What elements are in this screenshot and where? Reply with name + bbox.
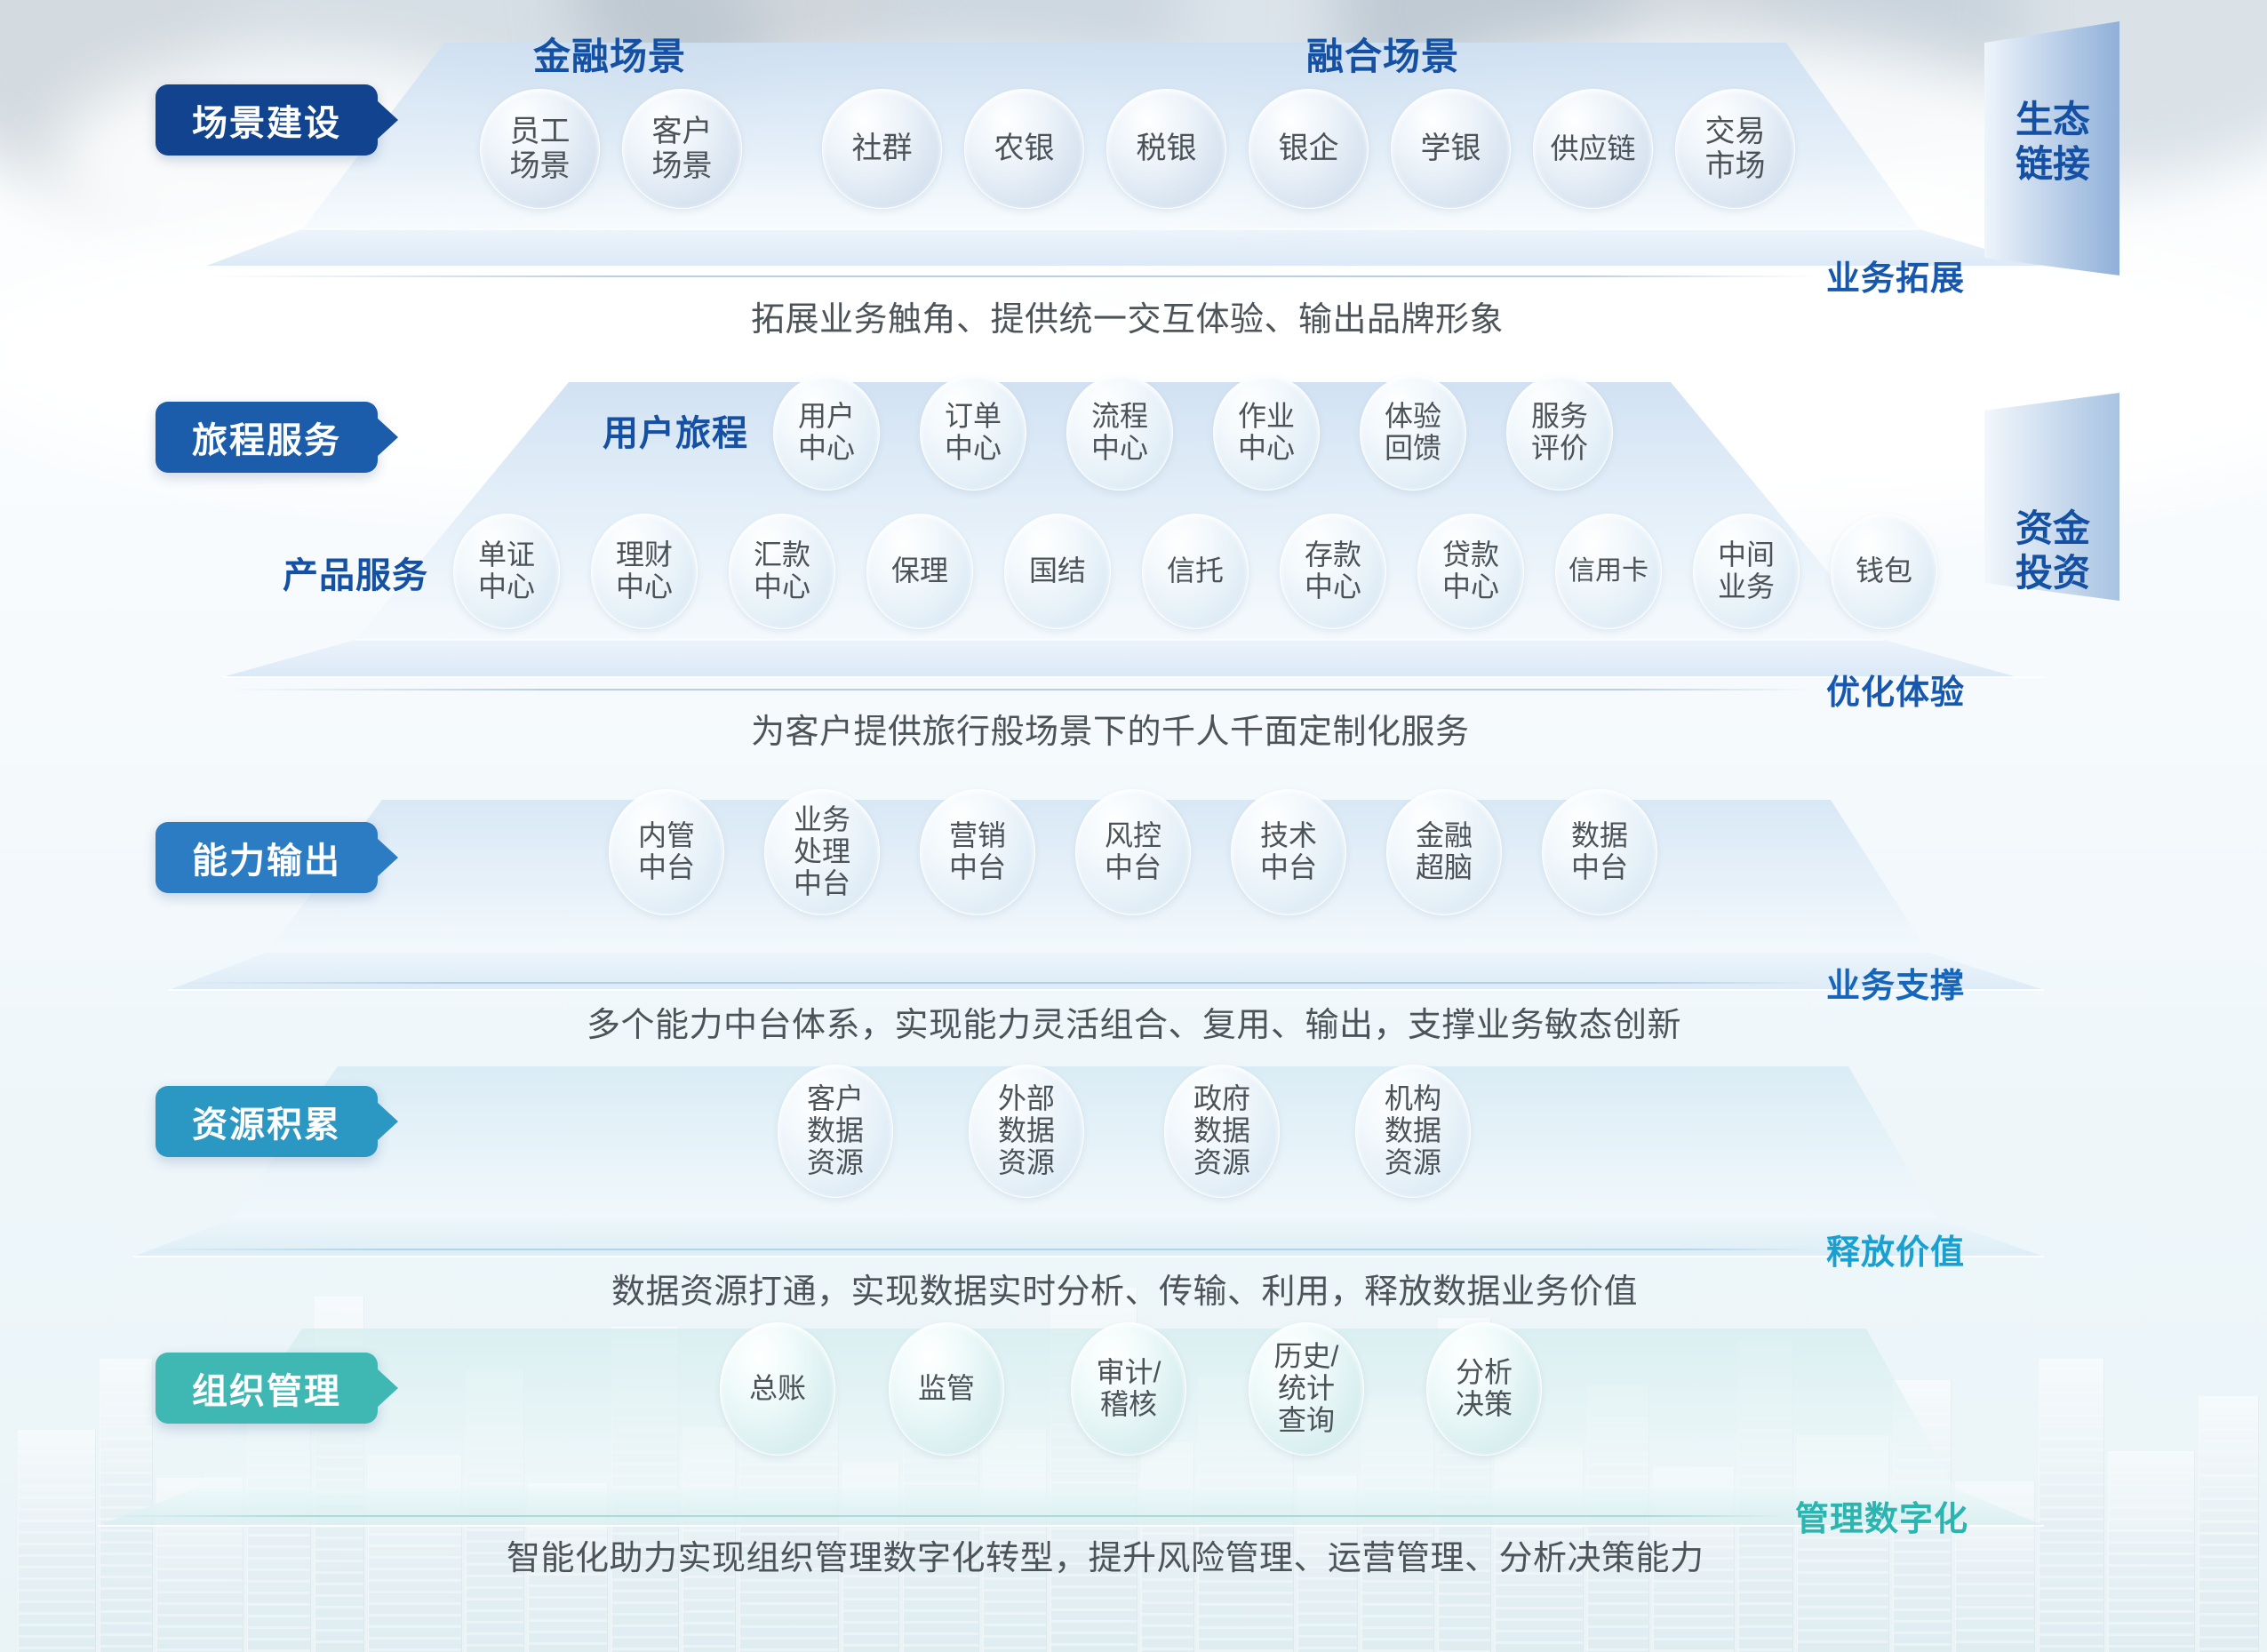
tag-notch	[377, 418, 398, 457]
rule-release-value	[142, 1249, 1813, 1250]
bubble-document-center[interactable]: 单证中心	[453, 514, 560, 629]
bubble-analysis-decision[interactable]: 分析决策	[1426, 1322, 1542, 1456]
bubble-process-center[interactable]: 流程中心	[1066, 375, 1173, 491]
tag-capability-output[interactable]: 能力输出	[156, 822, 378, 893]
side-banner-eco-link: 生态 链接	[1995, 84, 2111, 200]
bubble-loan-center[interactable]: 贷款中心	[1417, 514, 1524, 629]
tag-scene-construction-label: 场景建设	[192, 94, 341, 146]
bubble-service-evaluation[interactable]: 服务评价	[1506, 375, 1613, 491]
caption-capability-output: 多个能力中台体系，实现能力灵活组合、复用、输出，支撑业务敏态创新	[587, 997, 1681, 1046]
tag-journey-service[interactable]: 旅程服务	[156, 402, 378, 473]
rule-optimize-experience	[222, 689, 1813, 690]
bubble-community[interactable]: 社群	[822, 89, 942, 209]
tag-journey-service-label: 旅程服务	[192, 411, 341, 463]
value-label-release-value: 释放价值	[1826, 1225, 1965, 1273]
bubble-remittance-center[interactable]: 汇款中心	[729, 514, 835, 629]
bubble-history-statistics-query[interactable]: 历史/统计查询	[1249, 1322, 1364, 1456]
bubble-supply-chain[interactable]: 供应链	[1533, 89, 1653, 209]
bubble-institution-data-resource[interactable]: 机构数据资源	[1355, 1065, 1471, 1198]
bubble-tax-bank[interactable]: 税银	[1106, 89, 1226, 209]
bubble-credit-card[interactable]: 信用卡	[1555, 514, 1662, 629]
bubble-order-center[interactable]: 订单中心	[920, 375, 1026, 491]
bubble-data-platform[interactable]: 数据中台	[1542, 789, 1657, 915]
bubble-customer-scene[interactable]: 客户场景	[622, 89, 742, 209]
bubble-bank-enterprise[interactable]: 银企	[1249, 89, 1369, 209]
architecture-diagram: 场景建设 金融场景 融合场景 员工场景 客户场景 社群 农银 税银 银企 学银 …	[0, 0, 2267, 1652]
tag-organization-management[interactable]: 组织管理	[156, 1353, 378, 1424]
bubble-business-process-platform[interactable]: 业务处理中台	[764, 789, 880, 915]
bubble-user-center[interactable]: 用户中心	[773, 375, 880, 491]
bubble-financial-brain[interactable]: 金融超脑	[1386, 789, 1502, 915]
bubble-general-ledger[interactable]: 总账	[720, 1322, 835, 1456]
bubble-agri-bank[interactable]: 农银	[964, 89, 1084, 209]
value-label-business-expansion: 业务拓展	[1826, 251, 1965, 299]
bubble-international-settlement[interactable]: 国结	[1004, 514, 1111, 629]
bubble-internal-mgmt-platform[interactable]: 内管中台	[609, 789, 724, 915]
side-banner-fund-investment: 资金 投资	[1995, 493, 2111, 609]
bubble-operation-center[interactable]: 作业中心	[1213, 375, 1320, 491]
bubble-school-bank[interactable]: 学银	[1391, 89, 1511, 209]
tag-resource-accumulation-label: 资源积累	[192, 1096, 341, 1147]
value-label-business-support: 业务支撑	[1826, 958, 1965, 1007]
bubble-risk-control-platform[interactable]: 风控中台	[1075, 789, 1191, 915]
tag-notch	[377, 838, 398, 877]
bubble-trust[interactable]: 信托	[1142, 514, 1249, 629]
rule-management-digitization	[107, 1515, 1786, 1517]
bubble-wallet[interactable]: 钱包	[1831, 514, 1937, 629]
bubble-wealth-center[interactable]: 理财中心	[591, 514, 698, 629]
tag-notch	[377, 100, 398, 140]
caption-organization-management: 智能化助力实现组织管理数字化转型，提升风险管理、运营管理、分析决策能力	[507, 1530, 1704, 1579]
tag-notch	[377, 1369, 398, 1408]
value-label-management-digitization: 管理数字化	[1795, 1491, 1968, 1540]
rule-business-support	[178, 982, 1817, 984]
tag-scene-construction[interactable]: 场景建设	[156, 84, 378, 156]
bubble-external-data-resource[interactable]: 外部数据资源	[969, 1065, 1084, 1198]
bubble-employee-scene[interactable]: 员工场景	[480, 89, 600, 209]
tag-organization-management-label: 组织管理	[192, 1362, 341, 1414]
bubble-experience-feedback[interactable]: 体验回馈	[1360, 375, 1466, 491]
value-label-optimize-experience: 优化体验	[1826, 665, 1965, 714]
bubble-customer-data-resource[interactable]: 客户数据资源	[778, 1065, 893, 1198]
bubble-marketing-platform[interactable]: 营销中台	[920, 789, 1035, 915]
group-heading-financial-scene: 金融场景	[533, 27, 686, 81]
tag-resource-accumulation[interactable]: 资源积累	[156, 1086, 378, 1157]
caption-scene-construction: 拓展业务触角、提供统一交互体验、输出品牌形象	[751, 291, 1504, 340]
bubble-deposit-center[interactable]: 存款中心	[1280, 514, 1386, 629]
bubble-government-data-resource[interactable]: 政府数据资源	[1164, 1065, 1280, 1198]
caption-journey-service: 为客户提供旅行般场景下的千人千面定制化服务	[751, 704, 1470, 753]
bubble-technology-platform[interactable]: 技术中台	[1231, 789, 1346, 915]
bubble-trading-market[interactable]: 交易市场	[1675, 89, 1795, 209]
group-heading-product-service: 产品服务	[283, 547, 428, 598]
bubble-factoring[interactable]: 保理	[866, 514, 973, 629]
tag-notch	[377, 1102, 398, 1141]
caption-resource-accumulation: 数据资源打通，实现数据实时分析、传输、利用，释放数据业务价值	[611, 1264, 1638, 1313]
bubble-intermediary-business[interactable]: 中间业务	[1693, 514, 1800, 629]
bubble-audit-inspection[interactable]: 审计/稽核	[1071, 1322, 1186, 1456]
bubble-supervision[interactable]: 监管	[889, 1322, 1004, 1456]
group-heading-integrated-scene: 融合场景	[1306, 27, 1459, 81]
tag-capability-output-label: 能力输出	[192, 832, 341, 883]
rule-business-expansion	[209, 275, 1817, 277]
group-heading-user-journey: 用户旅程	[603, 404, 748, 456]
